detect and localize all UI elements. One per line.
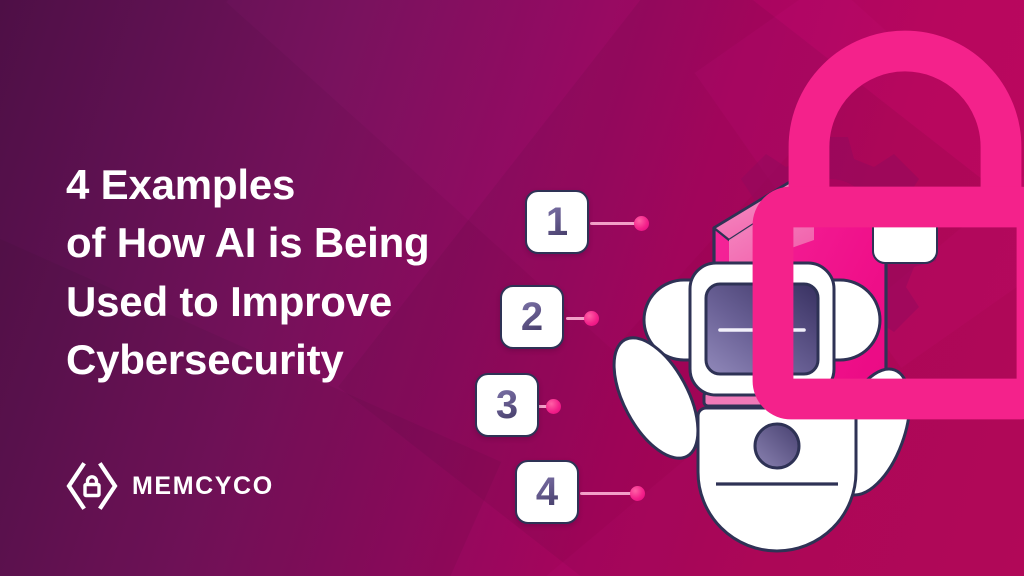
- banner-canvas: 4 Examples of How AI is Being Used to Im…: [0, 0, 1024, 576]
- chevron-lock-logo-icon: [66, 460, 118, 512]
- connector-dot-2: [584, 311, 599, 326]
- callout-card-1[interactable]: 1: [525, 190, 589, 254]
- callout-number-4: 4: [536, 472, 558, 512]
- connector-dot-1: [634, 216, 649, 231]
- padlock-icon: [689, 3, 1024, 459]
- brand-logo[interactable]: MEMCYCO: [66, 460, 274, 512]
- illustration-group: 1 2 3 4: [524, 120, 1024, 576]
- page-title: 4 Examples of How AI is Being Used to Im…: [66, 156, 566, 390]
- callout-number-3: 3: [496, 385, 518, 425]
- connector-dot-4: [630, 486, 645, 501]
- callout-card-3[interactable]: 3: [475, 373, 539, 437]
- connector-dot-3: [546, 399, 561, 414]
- brand-name: MEMCYCO: [132, 472, 274, 501]
- callout-card-2[interactable]: 2: [500, 285, 564, 349]
- callout-number-2: 2: [521, 297, 543, 337]
- callout-card-4[interactable]: 4: [515, 460, 579, 524]
- callout-number-1: 1: [546, 202, 568, 242]
- lock-badge[interactable]: [872, 198, 938, 264]
